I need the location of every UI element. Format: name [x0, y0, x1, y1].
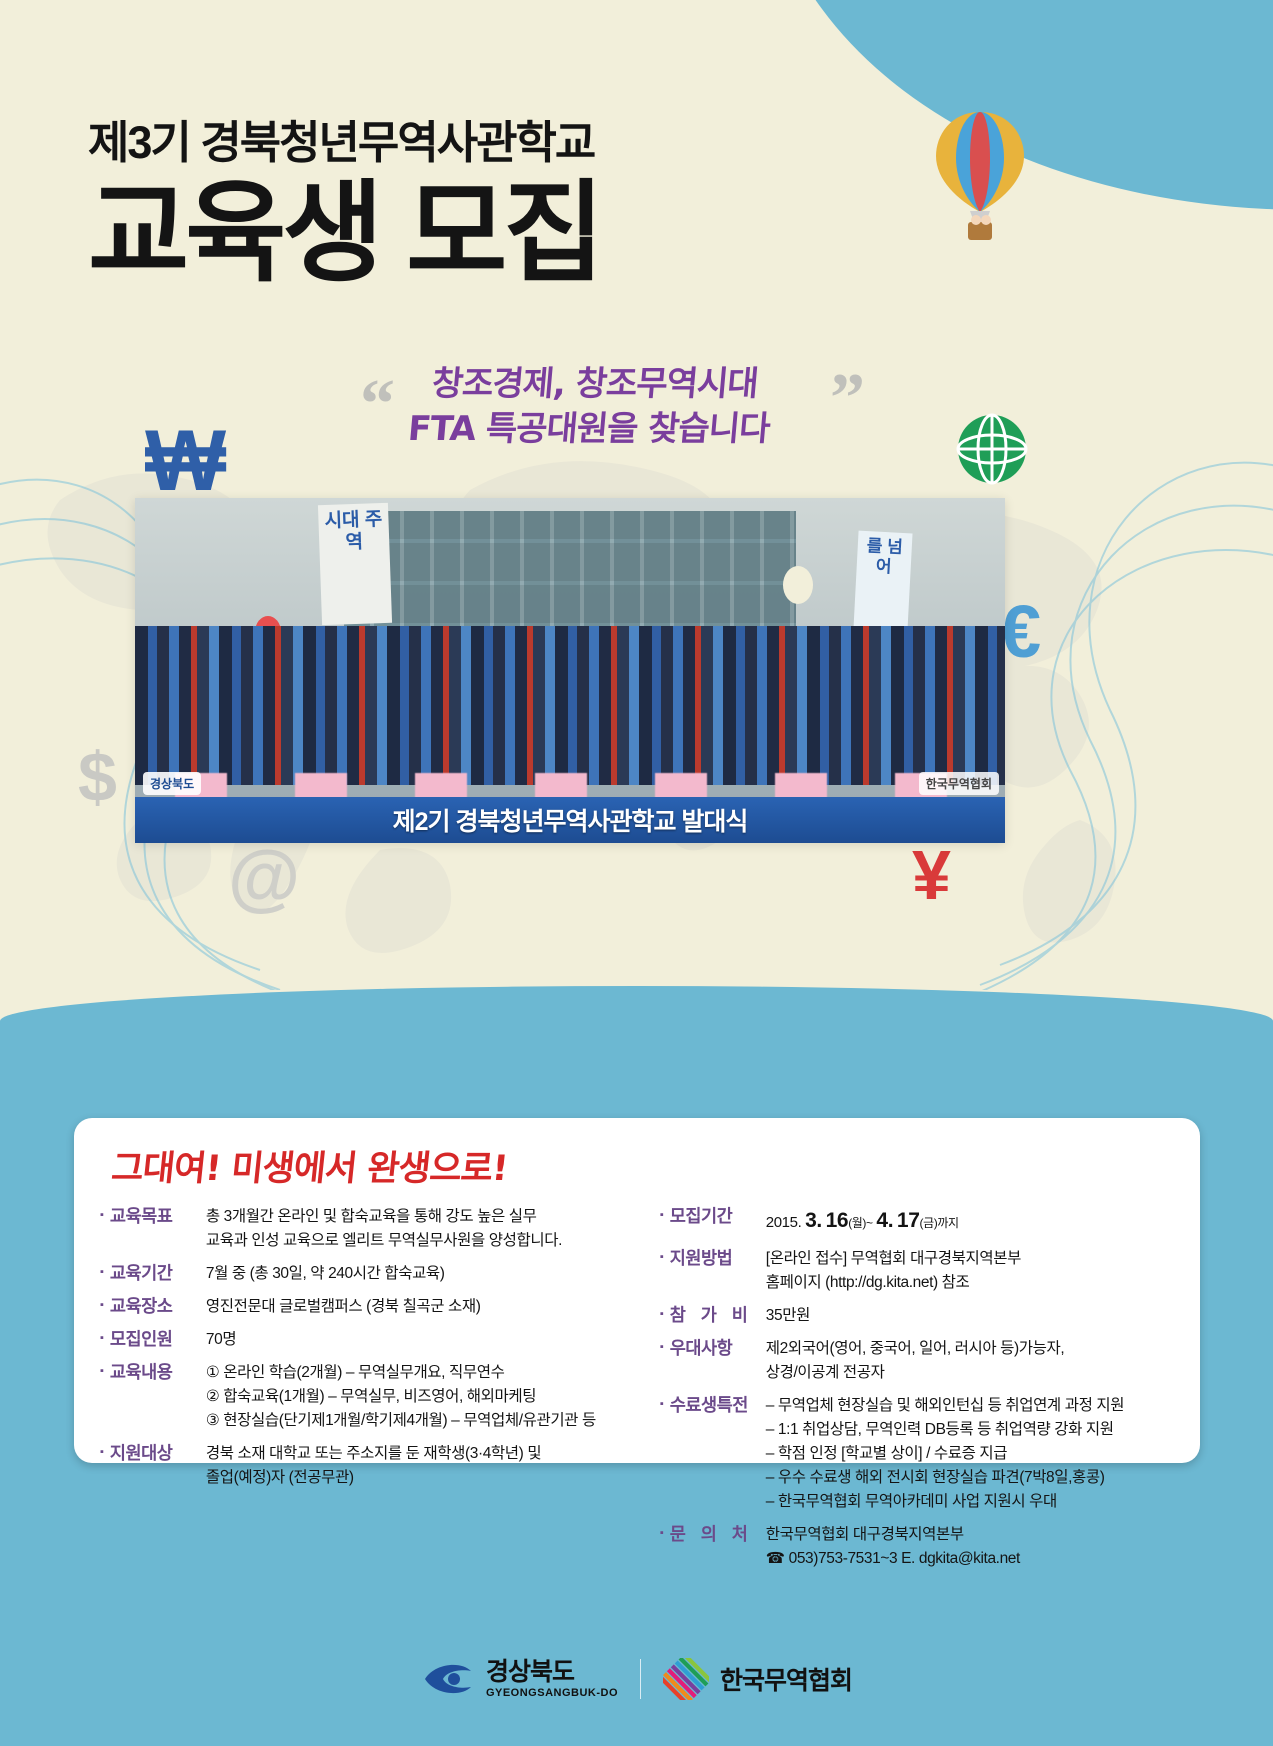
photo-banner-strip: 제2기 경북청년무역사관학교 발대식	[135, 797, 1005, 843]
info-label: 교육목표	[110, 1205, 206, 1229]
info-row-fee: ▪ 참 가 비 35만원	[660, 1304, 1174, 1328]
info-label: 문 의 처	[670, 1523, 766, 1547]
info-value-line: [온라인 접수] 무역협회 대구경북지역본부	[766, 1247, 1174, 1271]
info-column-right: ▪ 모집기간 2015. 3. 16(월)~ 4. 17(금)까지 ▪ 지원방법…	[644, 1205, 1174, 1580]
info-row-eligibility: ▪ 지원대상 경북 소재 대학교 또는 주소지를 둔 재학생(3·4학년) 및 …	[100, 1442, 630, 1490]
info-value-line: ③ 현장실습(단기제1개월/학기제4개월) – 무역업체/유관기관 등	[206, 1409, 630, 1433]
bullet-icon: ▪	[100, 1205, 104, 1226]
info-value-line: ① 온라인 학습(2개월) – 무역실무개요, 직무연수	[206, 1361, 630, 1385]
info-label: 모집기간	[670, 1205, 766, 1229]
photo-logo-kita: 한국무역협회	[919, 772, 999, 795]
period-end-dow: (금)까지	[919, 1216, 958, 1230]
poster-root: 제3기 경북청년무역사관학교 교육생 모집 “ ” 창조경제, 창조무역시대 F…	[0, 0, 1273, 1746]
logo-gyeongsangbuk-do: 경상북도 GYEONGSANGBUK-DO	[421, 1659, 618, 1699]
bullet-icon: ▪	[100, 1262, 104, 1283]
info-value: – 무역업체 현장실습 및 해외인턴십 등 취업연계 과정 지원 – 1:1 취…	[766, 1394, 1174, 1514]
photo-logo-gyeongsangbuk: 경상북도	[143, 772, 201, 795]
gyeongsangbuk-korean: 경상북도	[486, 1660, 618, 1685]
contact-phone-email: ☎ 053)753-7531~3 E. dgkita@kita.net	[766, 1547, 1174, 1571]
gyeongsangbuk-symbol-icon	[421, 1659, 475, 1699]
bullet-icon: ▪	[100, 1442, 104, 1463]
info-value-line: 제2외국어(영어, 중국어, 일어, 러시아 등)가능자,	[766, 1337, 1174, 1361]
info-value: 35만원	[766, 1304, 1174, 1328]
at-sign-icon: @	[228, 840, 300, 914]
period-start-month: 3.	[805, 1209, 822, 1232]
info-row-education-period: ▪ 교육기간 7월 중 (총 30일, 약 240시간 합숙교육)	[100, 1262, 630, 1286]
event-photo: 시대 주역 를 넘어 경상북도 한국무역협회 제2기 경북청년무역사관학교 발대…	[135, 498, 1005, 843]
info-value: 제2외국어(영어, 중국어, 일어, 러시아 등)가능자, 상경/이공계 전공자	[766, 1337, 1174, 1385]
photo-balloon-white	[783, 566, 813, 604]
info-label: 지원대상	[110, 1442, 206, 1466]
info-row-education-place: ▪ 교육장소 영진전문대 글로벌캠퍼스 (경북 칠곡군 소재)	[100, 1295, 630, 1319]
gyeongsangbuk-text: 경상북도 GYEONGSANGBUK-DO	[486, 1660, 618, 1699]
info-label: 교육기간	[110, 1262, 206, 1286]
info-row-contact: ▪ 문 의 처 한국무역협회 대구경북지역본부 ☎ 053)753-7531~3…	[660, 1523, 1174, 1571]
info-value: ① 온라인 학습(2개월) – 무역실무개요, 직무연수 ② 합숙교육(1개월)…	[206, 1361, 630, 1433]
photo-crowd-front	[135, 626, 1005, 785]
info-value-line: 상경/이공계 전공자	[766, 1361, 1174, 1385]
quote-open-icon: “	[360, 370, 395, 440]
bullet-icon: ▪	[660, 1247, 664, 1268]
info-row-recruit-period: ▪ 모집기간 2015. 3. 16(월)~ 4. 17(금)까지	[660, 1205, 1174, 1238]
period-start-day: 16	[826, 1209, 849, 1232]
photo-flower-row	[135, 773, 1005, 799]
info-column-left: ▪ 교육목표 총 3개월간 온라인 및 합숙교육을 통해 강도 높은 실무 교육…	[100, 1205, 630, 1580]
info-card: 그대여! 미생에서 완생으로! ▪ 교육목표 총 3개월간 온라인 및 합숙교육…	[74, 1118, 1200, 1463]
period-end-day: 17	[897, 1209, 920, 1232]
info-row-preference: ▪ 우대사항 제2외국어(영어, 중국어, 일어, 러시아 등)가능자, 상경/…	[660, 1337, 1174, 1385]
info-label: 교육장소	[110, 1295, 206, 1319]
info-row-graduate-benefits: ▪ 수료생특전 – 무역업체 현장실습 및 해외인턴십 등 취업연계 과정 지원…	[660, 1394, 1174, 1514]
gyeongsangbuk-english: GYEONGSANGBUK-DO	[486, 1688, 618, 1699]
tagline-line-2: FTA 특공대원을 찾습니다	[406, 407, 922, 452]
bullet-icon: ▪	[660, 1523, 664, 1544]
poster-kicker: 제3기 경북청년무역사관학교	[88, 120, 888, 165]
period-end-month: 4.	[876, 1209, 893, 1232]
kita-symbol-icon	[663, 1658, 709, 1700]
info-value-line: 교육과 인성 교육으로 엘리트 무역실무사원을 양성합니다.	[206, 1229, 630, 1253]
info-value: 영진전문대 글로벌캠퍼스 (경북 칠곡군 소재)	[206, 1295, 630, 1319]
info-value-line: 경북 소재 대학교 또는 주소지를 둔 재학생(3·4학년) 및	[206, 1442, 630, 1466]
headline-block: 제3기 경북청년무역사관학교 교육생 모집	[88, 120, 888, 294]
info-row-recruit-count: ▪ 모집인원 70명	[100, 1328, 630, 1352]
photo-sign-right: 를 넘어	[853, 531, 912, 632]
info-value-line: 졸업(예정)자 (전공무관)	[206, 1466, 630, 1490]
bullet-icon: ▪	[660, 1337, 664, 1358]
info-label: 우대사항	[670, 1337, 766, 1361]
tagline-line-1: 창조경제, 창조무역시대	[430, 362, 922, 407]
info-label: 수료생특전	[670, 1394, 766, 1418]
yen-currency-icon: ¥	[912, 840, 951, 910]
info-value-line: – 학점 인정 [학교별 상이] / 수료증 지급	[766, 1442, 1174, 1466]
euro-currency-icon: €	[1000, 595, 1041, 669]
bullet-icon: ▪	[660, 1394, 664, 1415]
bullet-icon: ▪	[660, 1205, 664, 1226]
info-row-apply-method: ▪ 지원방법 [온라인 접수] 무역협회 대구경북지역본부 홈페이지 (http…	[660, 1247, 1174, 1295]
info-row-education-goal: ▪ 교육목표 총 3개월간 온라인 및 합숙교육을 통해 강도 높은 실무 교육…	[100, 1205, 630, 1253]
bullet-icon: ▪	[100, 1328, 104, 1349]
kita-korean: 한국무역협회	[720, 1661, 852, 1697]
dollar-currency-icon: $	[78, 742, 117, 812]
bullet-icon: ▪	[100, 1295, 104, 1316]
info-label: 교육내용	[110, 1361, 206, 1385]
page-title: 교육생 모집	[88, 175, 888, 294]
info-value-line: ② 합숙교육(1개월) – 무역실무, 비즈영어, 해외마케팅	[206, 1385, 630, 1409]
info-columns: ▪ 교육목표 총 3개월간 온라인 및 합숙교육을 통해 강도 높은 실무 교육…	[100, 1205, 1174, 1580]
info-value: 경북 소재 대학교 또는 주소지를 둔 재학생(3·4학년) 및 졸업(예정)자…	[206, 1442, 630, 1490]
info-value-recruit-period: 2015. 3. 16(월)~ 4. 17(금)까지	[766, 1205, 1174, 1238]
tagline-block: “ ” 창조경제, 창조무역시대 FTA 특공대원을 찾습니다	[360, 362, 920, 452]
won-currency-icon: ₩	[145, 418, 226, 504]
info-value: 총 3개월간 온라인 및 합숙교육을 통해 강도 높은 실무 교육과 인성 교육…	[206, 1205, 630, 1253]
info-value-line: – 우수 수료생 해외 전시회 현장실습 파견(7박8일,홍콩)	[766, 1466, 1174, 1490]
info-card-title: 그대여! 미생에서 완생으로!	[109, 1140, 1176, 1191]
info-value-line: – 1:1 취업상담, 무역인력 DB등록 등 취업역량 강화 지원	[766, 1418, 1174, 1442]
info-label: 지원방법	[670, 1247, 766, 1271]
footer-divider	[640, 1659, 641, 1699]
period-year: 2015.	[766, 1214, 802, 1231]
info-label: 참 가 비	[670, 1304, 766, 1328]
info-value-line: 한국무역협회 대구경북지역본부	[766, 1523, 1174, 1547]
info-row-education-content: ▪ 교육내용 ① 온라인 학습(2개월) – 무역실무개요, 직무연수 ② 합숙…	[100, 1361, 630, 1433]
bullet-icon: ▪	[660, 1304, 664, 1325]
info-label: 모집인원	[110, 1328, 206, 1352]
info-value: 70명	[206, 1328, 630, 1352]
hot-air-balloon-icon	[920, 108, 1040, 258]
info-value: 7월 중 (총 30일, 약 240시간 합숙교육)	[206, 1262, 630, 1286]
bullet-icon: ▪	[100, 1361, 104, 1382]
info-value: [온라인 접수] 무역협회 대구경북지역본부 홈페이지 (http://dg.k…	[766, 1247, 1174, 1295]
info-value-line: 홈페이지 (http://dg.kita.net) 참조	[766, 1271, 1174, 1295]
info-value-line: – 한국무역협회 무역아카데미 사업 지원시 우대	[766, 1490, 1174, 1514]
period-start-dow: (월)~	[848, 1216, 872, 1230]
logo-kita: 한국무역협회	[663, 1658, 852, 1700]
info-value: 한국무역협회 대구경북지역본부 ☎ 053)753-7531~3 E. dgki…	[766, 1523, 1174, 1571]
photo-banner-text: 제2기 경북청년무역사관학교 발대식	[393, 802, 748, 838]
globe-icon	[955, 412, 1029, 486]
photo-sign-left: 시대 주역	[318, 503, 392, 625]
footer-logos: 경상북도 GYEONGSANGBUK-DO 한국무역협회	[0, 1658, 1273, 1700]
info-value-line: 총 3개월간 온라인 및 합숙교육을 통해 강도 높은 실무	[206, 1205, 630, 1229]
info-value-line: – 무역업체 현장실습 및 해외인턴십 등 취업연계 과정 지원	[766, 1394, 1174, 1418]
